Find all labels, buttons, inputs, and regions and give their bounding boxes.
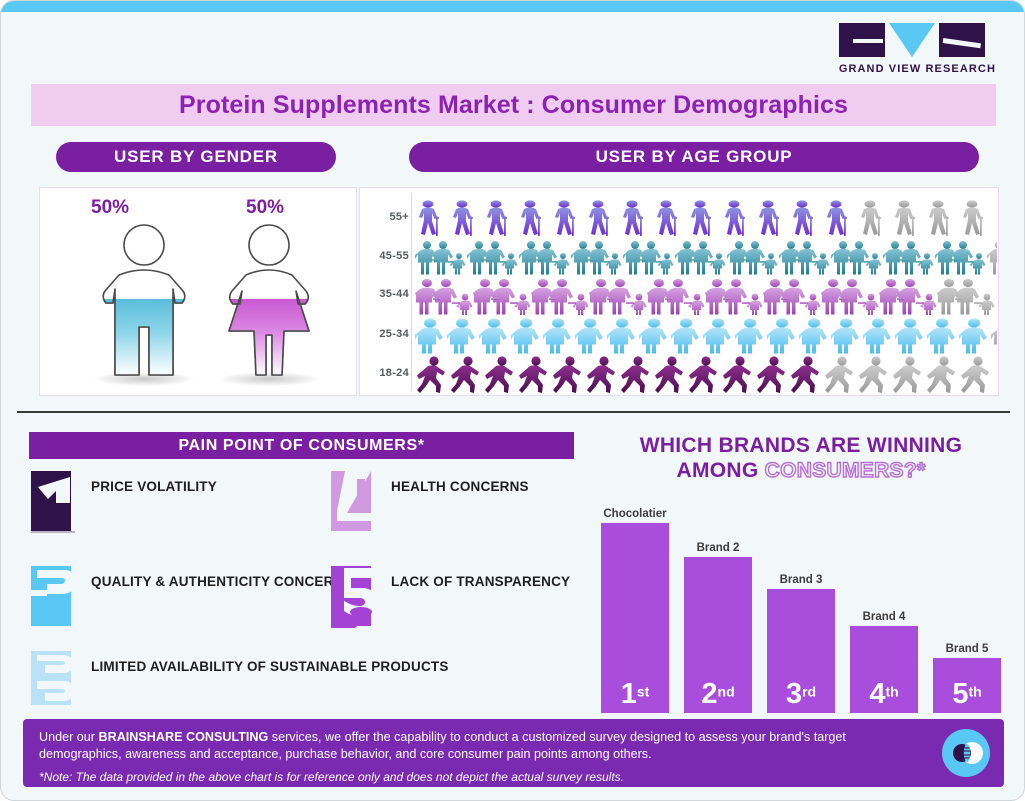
section-header-gender: USER BY GENDER xyxy=(56,142,336,172)
bar-rank-label: 1st xyxy=(621,680,650,709)
footer-text-a: Under our xyxy=(39,730,99,744)
bar-rank-label: 5th xyxy=(952,680,981,709)
bar-rect[interactable]: 2nd xyxy=(684,557,752,713)
age-label-25-34: 25-34 xyxy=(363,328,409,340)
pain-point-item-5: LACK OF TRANSPARENCY xyxy=(331,566,570,632)
bar-rect[interactable]: 4th xyxy=(850,626,918,713)
number-5-icon xyxy=(331,566,375,632)
age-chart-axis-line xyxy=(411,193,412,391)
brainshare-logo-icon xyxy=(942,729,990,777)
bar-label: Brand 3 xyxy=(780,574,823,586)
top-accent-bar xyxy=(1,1,1025,12)
bar-label: Brand 5 xyxy=(946,643,989,655)
pain-point-label-1: PRICE VOLATILITY xyxy=(91,477,217,496)
section-header-age-group: USER BY AGE GROUP xyxy=(409,142,979,172)
pain-point-label-3: LIMITED AVAILABILITY OF SUSTAINABLE PROD… xyxy=(91,657,449,676)
pain-point-item-1: PRICE VOLATILITY xyxy=(31,471,217,537)
brands-title-line2: AMONG CONSUMERS?* xyxy=(601,458,1001,483)
bar-rect[interactable]: 5th xyxy=(933,658,1001,713)
footer-banner: Under our BRAINSHARE CONSULTING services… xyxy=(23,719,1004,787)
female-percentage-label: 50% xyxy=(246,197,284,219)
bar-rect[interactable]: 1st xyxy=(601,523,669,713)
bar-rect[interactable]: 3rd xyxy=(767,589,835,713)
bar-label: Chocolatier xyxy=(603,508,666,520)
female-figure-icon xyxy=(214,223,324,388)
bar-rank-label: 3rd xyxy=(786,680,816,709)
pictogram-row-55plus xyxy=(415,197,997,237)
brands-title-among: AMONG xyxy=(677,459,765,482)
age-label-45-55: 45-55 xyxy=(363,250,409,262)
logo-g-icon xyxy=(839,23,885,57)
logo-marks xyxy=(839,23,996,57)
logo-text: GRAND VIEW RESEARCH xyxy=(839,63,996,75)
bar-column[interactable]: Brand 44th xyxy=(850,611,918,713)
age-label-18-24: 18-24 xyxy=(363,367,409,379)
pictogram-row-45-55 xyxy=(415,236,997,276)
pictogram-row-35-44 xyxy=(415,275,997,315)
pain-point-item-3: LIMITED AVAILABILITY OF SUSTAINABLE PROD… xyxy=(31,651,449,717)
male-figure-icon xyxy=(89,223,199,388)
brands-chart-title: WHICH BRANDS ARE WINNING AMONG CONSUMERS… xyxy=(601,433,1001,483)
bar-label: Brand 4 xyxy=(863,611,906,623)
bar-column[interactable]: Brand 22nd xyxy=(684,542,752,713)
number-2-icon xyxy=(31,566,75,632)
pain-point-label-5: LACK OF TRANSPARENCY xyxy=(391,572,570,591)
section-divider xyxy=(17,411,1010,413)
bar-rank-label: 2nd xyxy=(701,680,734,709)
pain-point-item-4: HEALTH CONCERNS xyxy=(331,471,529,537)
page-title-band: Protein Supplements Market : Consumer De… xyxy=(31,84,996,126)
page-title: Protein Supplements Market : Consumer De… xyxy=(179,91,848,120)
pictogram-row-25-34 xyxy=(415,314,997,354)
logo-v-icon xyxy=(889,23,935,57)
pain-point-label-2: QUALITY & AUTHENTICITY CONCERNS xyxy=(91,572,353,591)
pictogram-row-18-24 xyxy=(415,353,997,393)
brands-title-line1: WHICH BRANDS ARE WINNING xyxy=(601,433,1001,458)
pain-points-header: PAIN POINT OF CONSUMERS* xyxy=(29,432,574,459)
bar-label: Brand 2 xyxy=(697,542,740,554)
footer-main-text: Under our BRAINSHARE CONSULTING services… xyxy=(39,729,912,763)
age-label-35-44: 35-44 xyxy=(363,288,409,300)
female-figure-shadow xyxy=(218,372,320,386)
pain-point-label-4: HEALTH CONCERNS xyxy=(391,477,529,496)
footer-brand-name: BRAINSHARE CONSULTING xyxy=(99,730,269,744)
logo: GRAND VIEW RESEARCH xyxy=(839,23,996,75)
age-label-55plus: 55+ xyxy=(363,211,409,223)
brands-bar-chart: Chocolatier1stBrand 22ndBrand 33rdBrand … xyxy=(601,491,1001,713)
bar-column[interactable]: Brand 55th xyxy=(933,643,1001,713)
pain-point-item-2: QUALITY & AUTHENTICITY CONCERNS xyxy=(31,566,353,632)
infographic-page: GRAND VIEW RESEARCH Protein Supplements … xyxy=(0,0,1025,801)
logo-r-icon xyxy=(939,23,985,57)
bar-column[interactable]: Chocolatier1st xyxy=(601,508,669,713)
number-1-icon xyxy=(31,471,75,537)
brands-title-consumers: CONSUMERS?* xyxy=(765,459,926,482)
bar-rank-label: 4th xyxy=(869,680,898,709)
male-figure-shadow xyxy=(93,372,195,386)
number-4-icon xyxy=(331,471,375,537)
footer-note: *Note: The data provided in the above ch… xyxy=(39,770,912,785)
male-percentage-label: 50% xyxy=(91,197,129,219)
number-3-icon xyxy=(31,651,75,717)
bar-column[interactable]: Brand 33rd xyxy=(767,574,835,713)
